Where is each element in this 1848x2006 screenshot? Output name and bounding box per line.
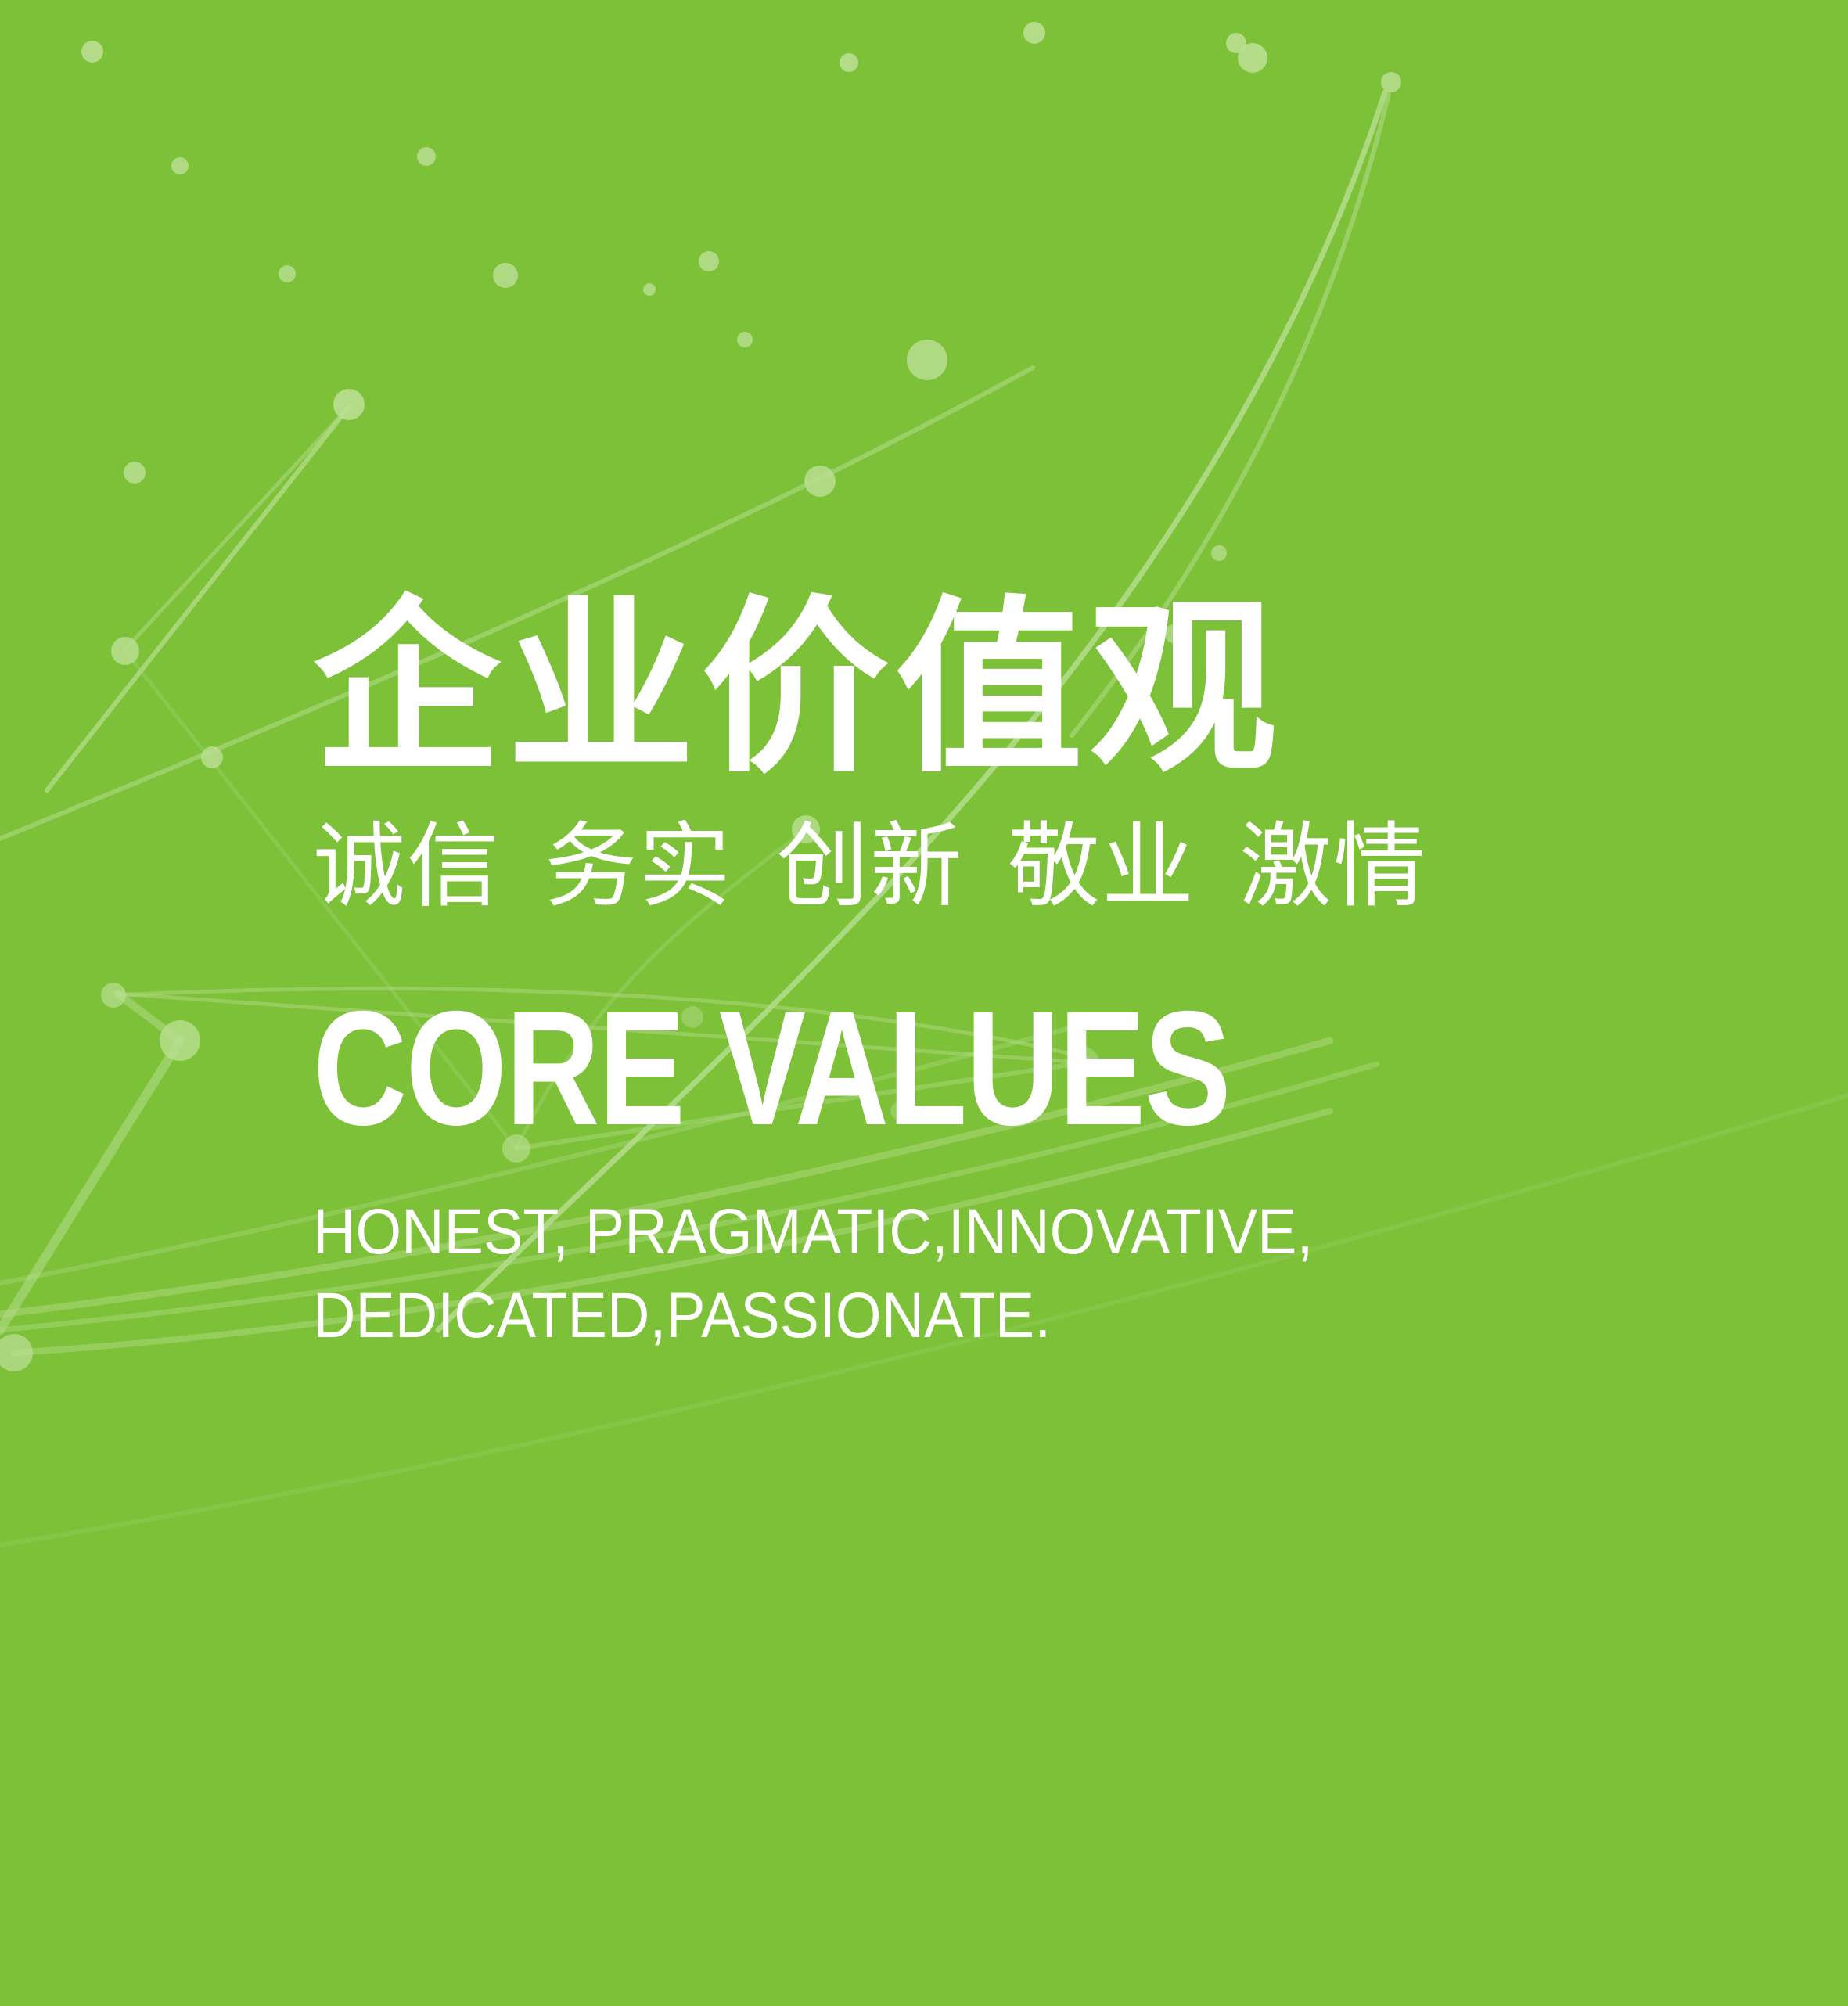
- text-content-block: 企业价值观 诚信务实创新敬业激情 CORE VALUES HONEST, PRA…: [313, 595, 1721, 1357]
- body-text-english: HONEST, PRAGMATIC,INNOVATIVE, DEDICATED,…: [313, 1191, 1537, 1357]
- value-word-5: 激情: [1239, 812, 1427, 920]
- body-line-2: DEDICATED,PASSIONATE.: [313, 1274, 1537, 1358]
- value-word-4: 敬业: [1008, 812, 1195, 920]
- page-title-english: CORE VALUES: [313, 987, 1440, 1150]
- body-line-1: HONEST, PRAGMATIC,INNOVATIVE,: [313, 1191, 1537, 1274]
- poster-canvas: 企业价值观 诚信务实创新敬业激情 CORE VALUES HONEST, PRA…: [0, 0, 1848, 2006]
- subtitle-chinese: 诚信务实创新敬业激情: [313, 820, 1721, 912]
- value-word-3: 创新: [776, 812, 964, 920]
- value-word-2: 务实: [545, 812, 732, 920]
- value-word-1: 诚信: [313, 812, 501, 920]
- page-title-chinese: 企业价值观: [313, 595, 1721, 782]
